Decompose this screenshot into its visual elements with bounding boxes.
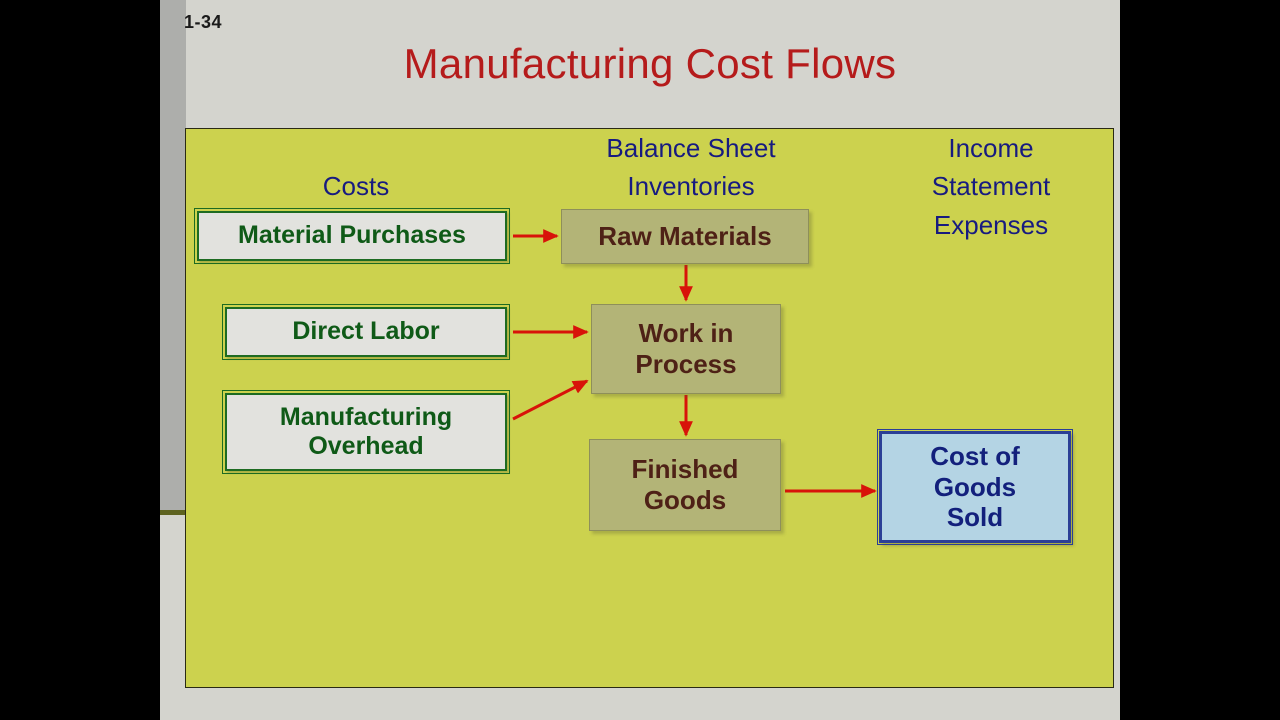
node-work-in-process-line1: Work in xyxy=(639,318,734,348)
page-title: Manufacturing Cost Flows xyxy=(186,40,1114,88)
node-finished-goods-line2: Goods xyxy=(644,485,726,515)
column-header-costs-line1: Costs xyxy=(196,167,516,205)
column-header-income-statement-line3: Expenses xyxy=(866,206,1116,244)
node-direct-labor[interactable]: Direct Labor xyxy=(225,307,507,357)
node-manufacturing-overhead-label: Manufacturing Overhead xyxy=(280,403,452,462)
node-cost-of-goods-sold-line2: Goods xyxy=(934,472,1016,502)
page-number: 1-34 xyxy=(184,12,222,33)
node-work-in-process-label: Work in Process xyxy=(635,318,736,379)
slide-left-accent-band-edge xyxy=(160,510,186,515)
presentation-screen: 1-34 Manufacturing Cost Flows Costs Bala… xyxy=(0,0,1280,720)
node-direct-labor-label: Direct Labor xyxy=(292,317,439,347)
node-manufacturing-overhead-line2: Overhead xyxy=(308,432,423,460)
node-work-in-process-line2: Process xyxy=(635,349,736,379)
cost-flow-diagram: Costs Balance Sheet Inventories Income S… xyxy=(185,128,1114,688)
column-header-income-statement: Income Statement Expenses xyxy=(866,129,1116,244)
node-manufacturing-overhead-line1: Manufacturing xyxy=(280,403,452,431)
slide-left-accent-band xyxy=(160,0,186,513)
column-header-balance-sheet: Balance Sheet Inventories xyxy=(531,129,851,206)
node-manufacturing-overhead[interactable]: Manufacturing Overhead xyxy=(225,393,507,471)
flow-arrow-mfg-overhead-to-work-in-process xyxy=(513,381,587,419)
column-header-income-statement-line1: Income xyxy=(866,129,1116,167)
node-raw-materials-label: Raw Materials xyxy=(598,221,771,252)
node-cost-of-goods-sold-label: Cost of Goods Sold xyxy=(930,441,1020,533)
node-raw-materials[interactable]: Raw Materials xyxy=(561,209,809,264)
node-finished-goods[interactable]: Finished Goods xyxy=(589,439,781,531)
node-cost-of-goods-sold[interactable]: Cost of Goods Sold xyxy=(879,431,1071,543)
node-material-purchases[interactable]: Material Purchases xyxy=(197,211,507,261)
node-material-purchases-label: Material Purchases xyxy=(238,221,466,251)
column-header-income-statement-line2: Statement xyxy=(866,167,1116,205)
column-header-balance-sheet-line2: Inventories xyxy=(531,167,851,205)
node-finished-goods-line1: Finished xyxy=(632,454,739,484)
node-cost-of-goods-sold-line1: Cost of xyxy=(930,441,1020,471)
node-work-in-process[interactable]: Work in Process xyxy=(591,304,781,394)
column-header-costs: Costs xyxy=(196,167,516,205)
node-cost-of-goods-sold-line3: Sold xyxy=(947,502,1003,532)
node-finished-goods-label: Finished Goods xyxy=(632,454,739,515)
column-header-balance-sheet-line1: Balance Sheet xyxy=(531,129,851,167)
